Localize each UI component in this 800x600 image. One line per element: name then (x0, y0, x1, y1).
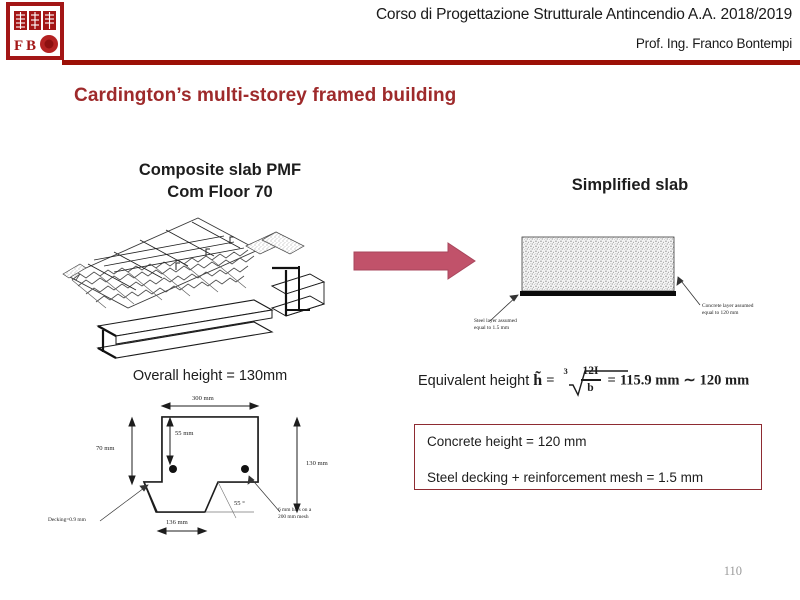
mesh-note-line1: 6 mm bars on a (278, 507, 311, 513)
isometric-slab-svg (58, 208, 354, 360)
dim-70mm: 70 mm (96, 445, 115, 452)
page-number: 110 (724, 564, 742, 579)
dim-55mm: 55 mm (175, 430, 194, 437)
angle-55deg: 55 ° (234, 500, 245, 507)
fraction-denominator: b (581, 382, 601, 395)
composite-slab-heading-line1: Composite slab PMF (139, 161, 301, 179)
seal-icon: F B (6, 2, 64, 60)
fraction-bar (581, 379, 601, 380)
overall-height-label: Overall height = 130mm (60, 368, 360, 384)
composite-slab-heading: Composite slab PMF Com Floor 70 (85, 160, 355, 204)
steel-note-line2: equal to 1.5 mm (474, 325, 509, 331)
page-title: Cardington’s multi-storey framed buildin… (74, 85, 456, 107)
rebar-dot-right (241, 465, 249, 473)
rebar-dot-left (169, 465, 177, 473)
presentation-slide: F B Corso di Progettazione Strutturale A… (0, 0, 800, 600)
steel-layer-note: Steel layer assumed equal to 1.5 mm (474, 318, 517, 332)
simplified-slab-svg (470, 225, 790, 340)
right-arrow-icon (350, 240, 480, 282)
concrete-note-line1: Concrete layer assumed (702, 303, 754, 309)
svg-text:F: F (14, 38, 23, 54)
decking-thickness-note: Decking=0.9 mm (48, 517, 86, 524)
professor-name: Prof. Ing. Franco Bontempi (636, 36, 792, 51)
simplified-slab-drawing: Concrete layer assumed equal to 120 mm S… (470, 225, 790, 340)
mesh-note-line2: 200 mm mesh (278, 514, 309, 520)
concrete-note-line2: equal to 120 mm (702, 310, 738, 316)
concrete-layer-note: Concrete layer assumed equal to 120 mm (702, 303, 754, 317)
steel-note-line1: Steel layer assumed (474, 318, 517, 324)
equation-approx-sign: ∼ (683, 373, 695, 389)
dim-136mm: 136 mm (166, 519, 188, 526)
composite-slab-heading-line2: Com Floor 70 (167, 183, 272, 201)
slab-cross-section-drawing: 300 mm 70 mm 55 mm 130 mm 136 mm 55 ° De… (40, 390, 360, 545)
cube-root-radical: 3 12I b (563, 364, 601, 398)
equation-label: Equivalent height (418, 373, 529, 389)
course-title: Corso di Progettazione Strutturale Antin… (376, 6, 792, 24)
cross-section-svg (40, 390, 360, 545)
result-summary-box: Concrete height = 120 mm Steel decking +… (414, 424, 762, 490)
composite-slab-isometric-drawing (58, 208, 354, 360)
concrete-layer (522, 237, 674, 291)
equation-symbol-h-tilde: h̃ (533, 372, 542, 389)
simplified-slab-heading: Simplified slab (480, 176, 780, 195)
fraction-12I-over-b: 12I b (581, 365, 601, 395)
result-concrete-height: Concrete height = 120 mm (427, 434, 749, 450)
header-divider (62, 60, 800, 65)
equation-equals-1: = (546, 373, 554, 389)
transformation-arrow (350, 240, 480, 282)
equation-rounded-value: 120 mm (700, 373, 750, 389)
slide-header: F B Corso di Progettazione Strutturale A… (0, 0, 800, 62)
mesh-note: 6 mm bars on a 200 mm mesh (278, 507, 311, 521)
dim-300mm: 300 mm (192, 395, 214, 402)
fraction-numerator: 12I (581, 365, 601, 378)
equivalent-height-equation: Equivalent height h̃ = 3 12I b = 115.9 m… (418, 364, 749, 398)
university-seal-logo: F B (6, 2, 64, 60)
result-steel-thickness: Steel decking + reinforcement mesh = 1.5… (427, 470, 749, 486)
steel-layer (520, 291, 676, 296)
dim-130mm: 130 mm (306, 460, 328, 467)
svg-text:B: B (26, 38, 36, 54)
